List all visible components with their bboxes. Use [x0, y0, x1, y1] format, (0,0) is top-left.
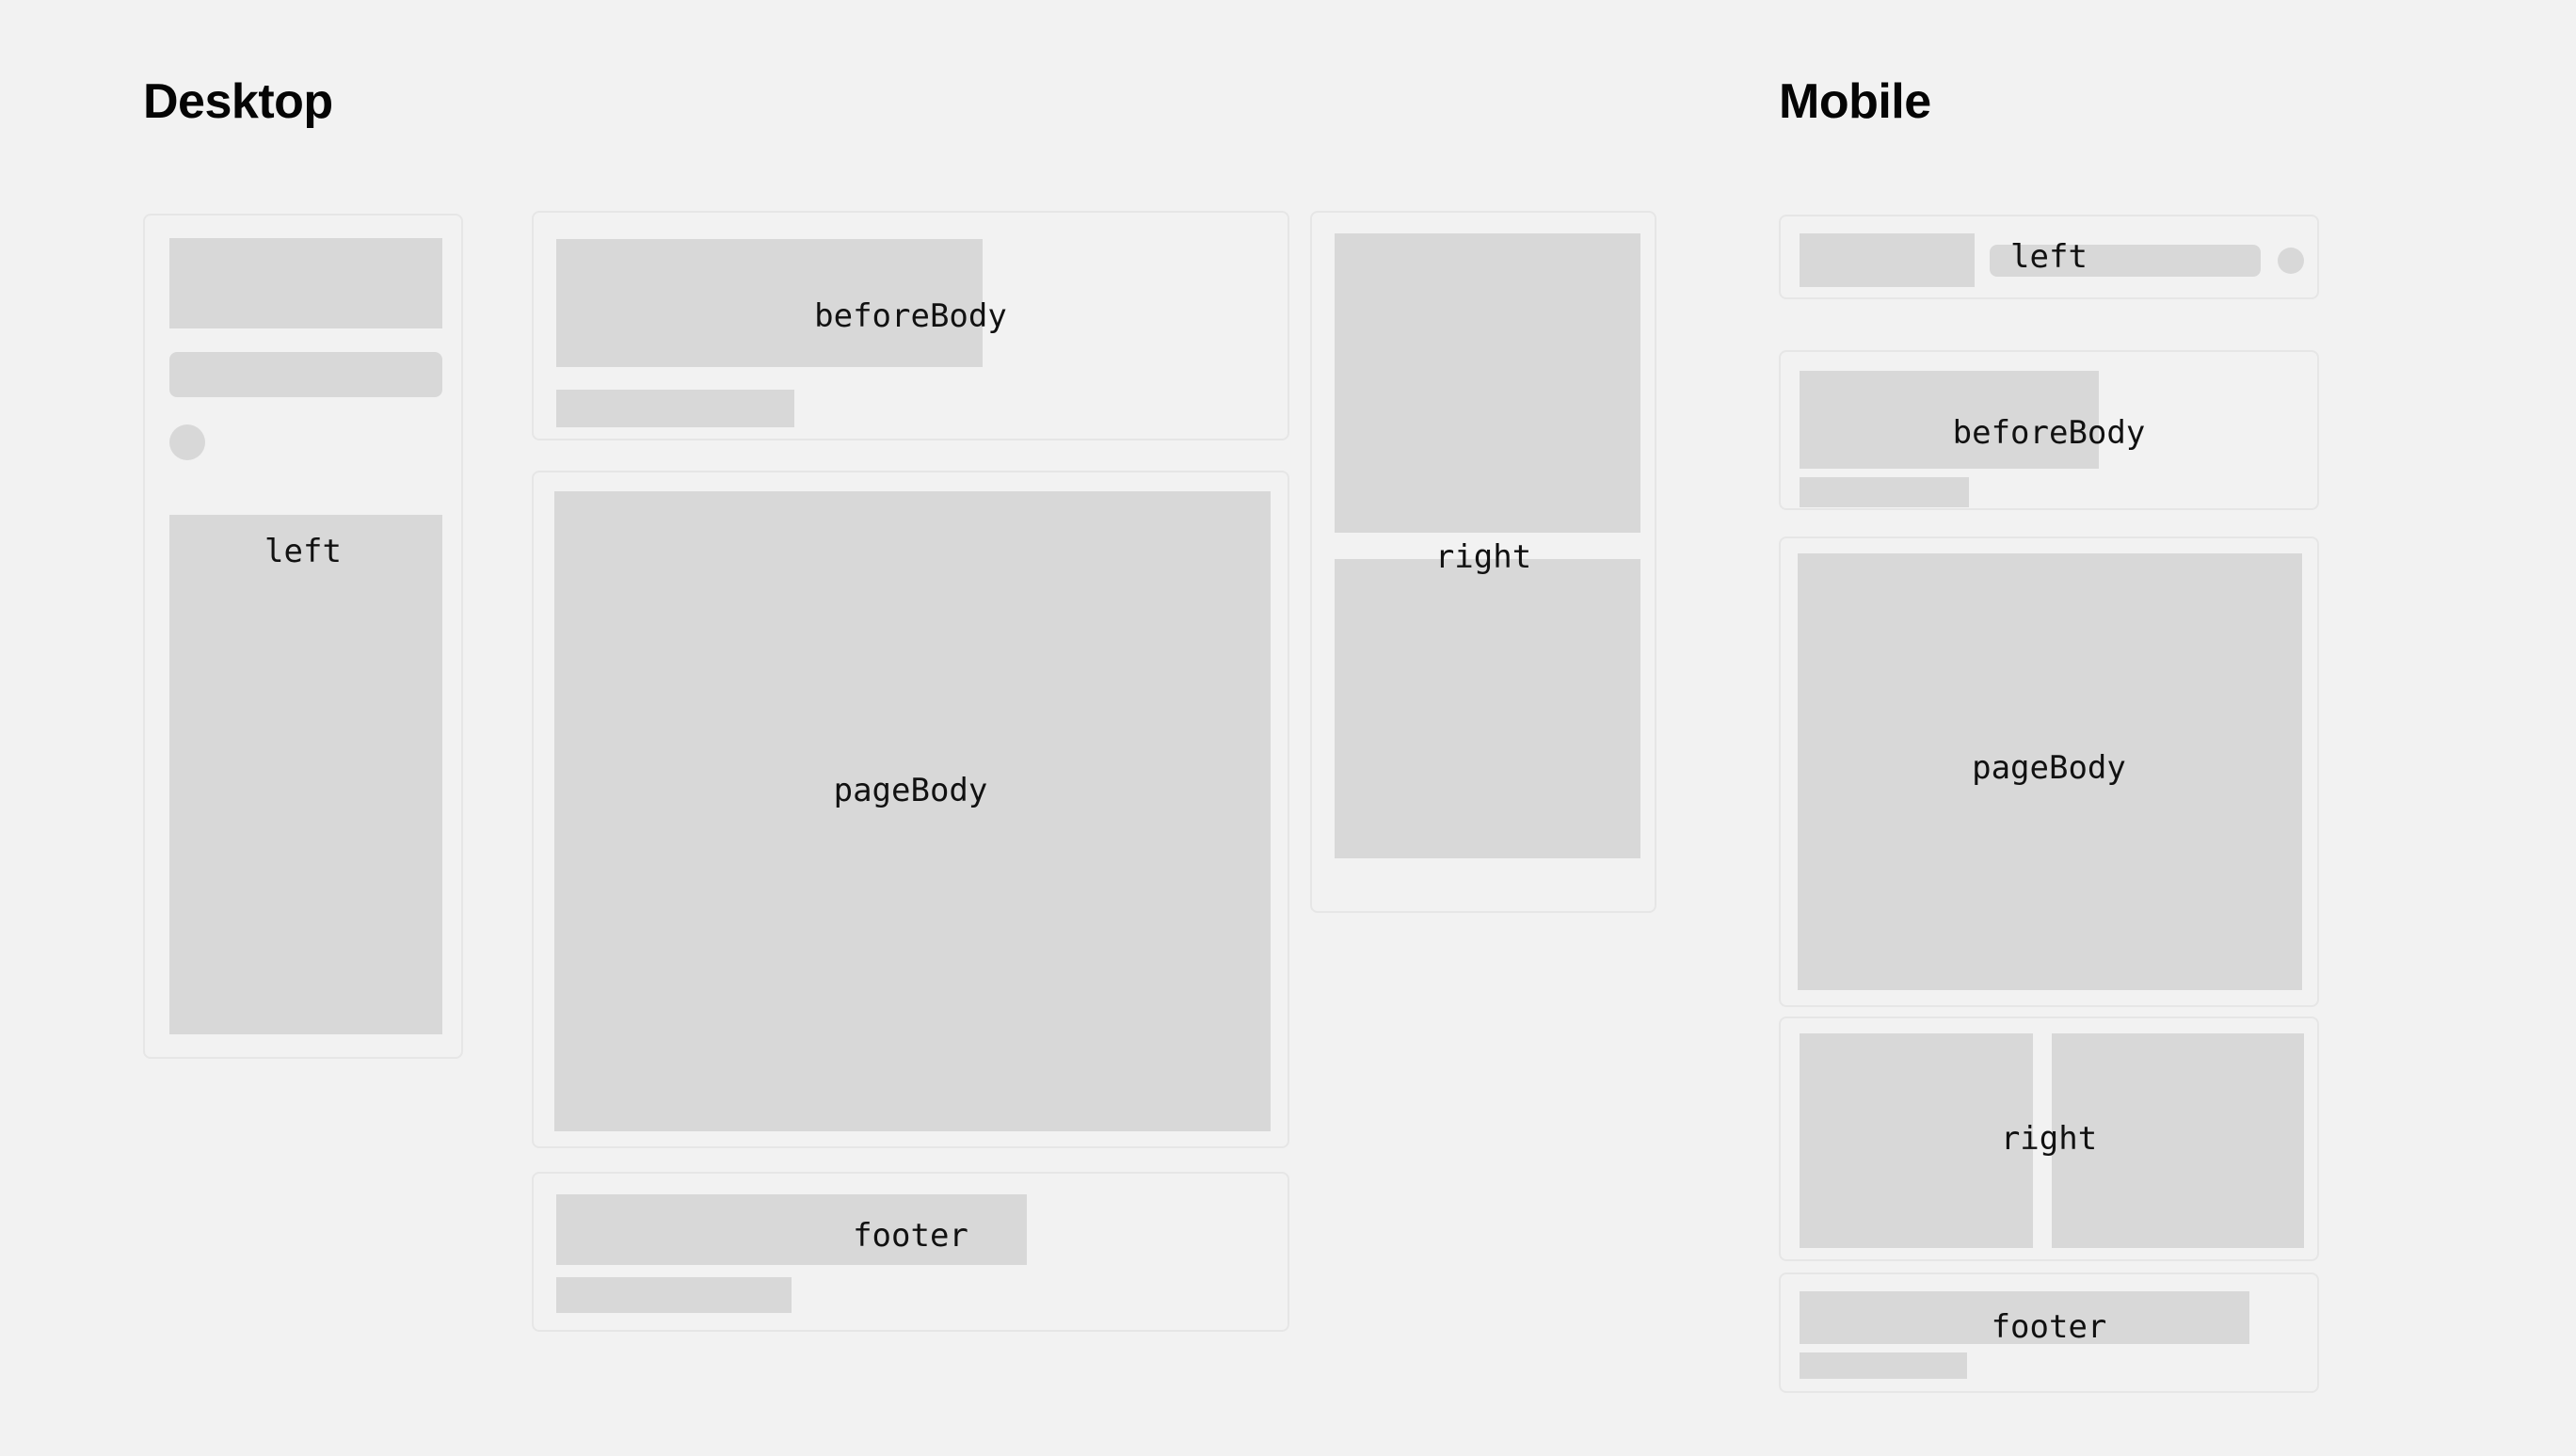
placeholder-block-bottom [1335, 559, 1640, 858]
placeholder-block-avatar [169, 424, 205, 460]
placeholder-block-bar [1800, 477, 1969, 507]
desktop-slot-right[interactable] [1310, 211, 1656, 913]
desktop-slot-left[interactable] [143, 214, 463, 1059]
placeholder-block-hero [556, 239, 983, 367]
placeholder-block-top [1335, 233, 1640, 533]
mobile-slot-pagebody[interactable] [1779, 536, 2319, 1007]
desktop-slot-footer[interactable] [532, 1172, 1289, 1332]
placeholder-block-bar [556, 1277, 792, 1313]
placeholder-block-avatar [2278, 248, 2304, 274]
placeholder-block-right [2052, 1033, 2304, 1248]
placeholder-block-hero [169, 238, 442, 328]
placeholder-block-hero [1800, 1291, 2249, 1344]
placeholder-block-left [1800, 1033, 2033, 1248]
desktop-slot-beforebody[interactable] [532, 211, 1289, 440]
placeholder-block-hero [1800, 371, 2099, 469]
mobile-slot-beforebody[interactable] [1779, 350, 2319, 510]
desktop-slot-pagebody[interactable] [532, 471, 1289, 1148]
mobile-column-heading: Mobile [1779, 77, 1931, 126]
placeholder-block-hero [556, 1194, 1027, 1265]
mobile-slot-right[interactable] [1779, 1016, 2319, 1261]
mobile-slot-left[interactable] [1779, 215, 2319, 299]
placeholder-block-main [1798, 553, 2302, 990]
placeholder-block-bar [1800, 1352, 1967, 1379]
wireframe-canvas: Desktop left beforeBody pageBody footer … [0, 0, 2576, 1456]
mobile-slot-footer[interactable] [1779, 1272, 2319, 1393]
desktop-column-heading: Desktop [143, 77, 333, 126]
placeholder-block-bar [1990, 245, 2261, 277]
placeholder-block-hero [1800, 233, 1975, 287]
placeholder-block-main [554, 491, 1271, 1131]
placeholder-block-bar [169, 352, 442, 397]
placeholder-block-bar [556, 390, 794, 427]
placeholder-block-main [169, 515, 442, 1034]
